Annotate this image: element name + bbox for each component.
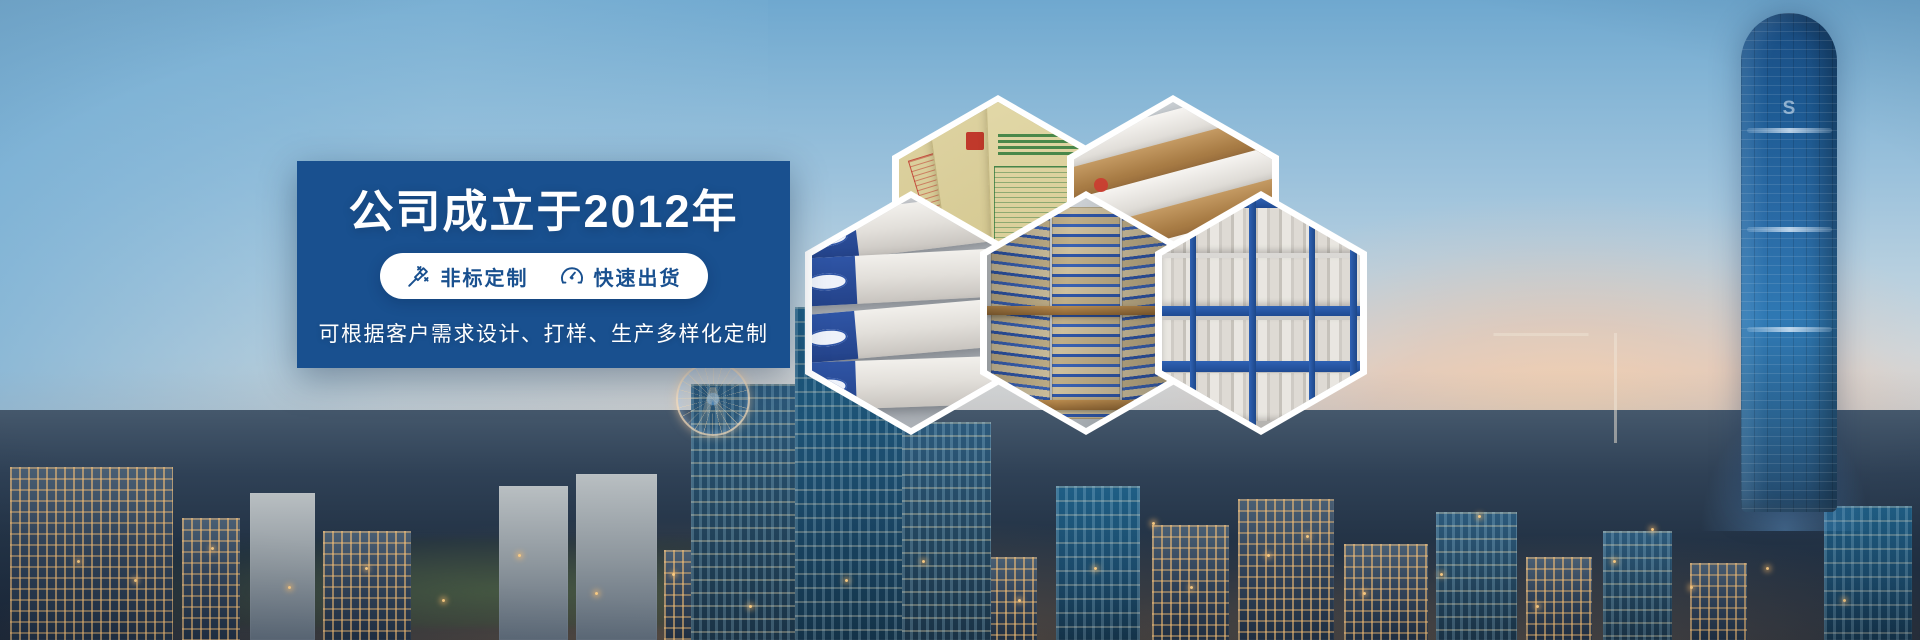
tower-band [1747, 128, 1832, 133]
building-block [1690, 563, 1748, 640]
building-block [1152, 525, 1229, 640]
feature-custom-design[interactable]: 非标定制 [406, 262, 529, 291]
promo-banner: S [0, 0, 1920, 640]
tower-band [1747, 327, 1832, 332]
building-block [250, 493, 315, 640]
tile-photo [1162, 198, 1360, 428]
tower-marking: S [1783, 98, 1797, 120]
building-block [1056, 486, 1140, 640]
feature-fast-shipping[interactable]: 快速出货 [559, 262, 682, 291]
building-block [902, 422, 990, 640]
tower-facade-grid [1741, 13, 1837, 512]
building-block [182, 518, 240, 640]
building-block [10, 467, 173, 640]
feature-label: 快速出货 [594, 262, 682, 291]
building-block [576, 474, 657, 640]
page-title: 公司成立于2012年 [348, 189, 738, 234]
speedometer-icon [559, 263, 585, 289]
building-block [1603, 531, 1672, 640]
construction-crane-mast [1614, 333, 1617, 443]
building-block [1344, 544, 1428, 640]
feature-badge-group: 非标定制 快速出货 [380, 253, 708, 299]
curved-skyscraper: S [1741, 13, 1837, 512]
photo-warehouse [1162, 198, 1360, 428]
headline-panel: 公司成立于2012年 非标定制 [297, 161, 790, 368]
feature-label: 非标定制 [441, 262, 529, 291]
construction-crane-jib [1493, 333, 1588, 336]
building-block [1238, 499, 1334, 640]
custom-design-icon [406, 263, 432, 289]
hexagon-gallery [800, 95, 1420, 435]
building-block [1436, 512, 1517, 640]
building-block [323, 531, 411, 640]
building-block [499, 486, 568, 640]
page-subtitle: 可根据客户需求设计、打样、生产多样化定制 [319, 318, 769, 348]
building-block [1526, 557, 1591, 640]
tower-band [1747, 227, 1832, 232]
